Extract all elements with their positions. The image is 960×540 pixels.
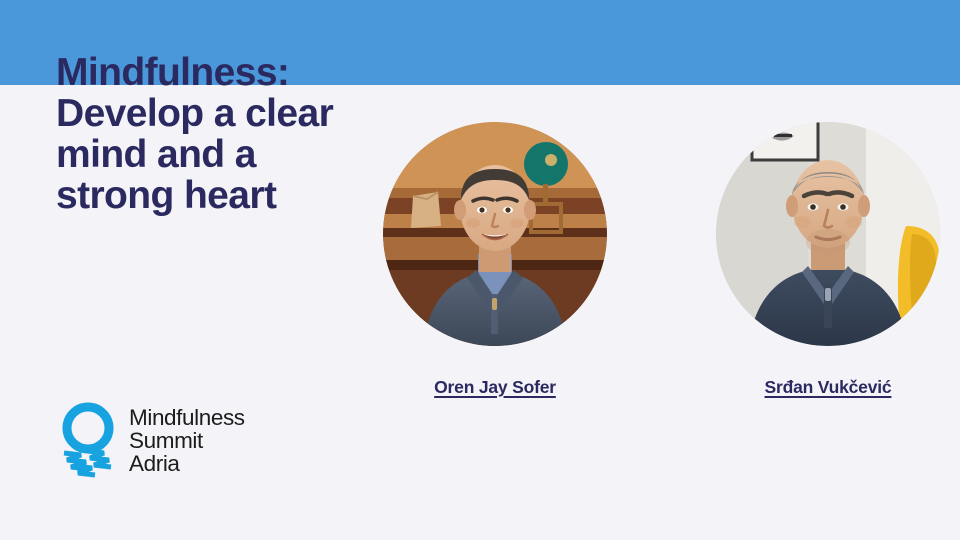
speaker-card-1: Oren Jay Sofer	[383, 122, 607, 398]
presentation-slide: Mindfulness: Develop a clear mind and a …	[0, 0, 960, 540]
speaker-card-2: Srđan Vukčević	[716, 122, 940, 398]
speaker-photo-srdan-vukcevic	[716, 122, 940, 346]
speaker-name-link-1[interactable]: Oren Jay Sofer	[434, 377, 556, 398]
brand-logo[interactable]: Mindfulness Summit Adria	[57, 402, 245, 480]
speaker-name-link-2[interactable]: Srđan Vukčević	[765, 377, 892, 398]
brand-logo-text: Mindfulness Summit Adria	[129, 402, 245, 475]
page-title: Mindfulness: Develop a clear mind and a …	[56, 52, 416, 216]
mindfulness-summit-adria-logo-mark	[57, 402, 119, 480]
speaker-photo-oren-jay-sofer	[383, 122, 607, 346]
